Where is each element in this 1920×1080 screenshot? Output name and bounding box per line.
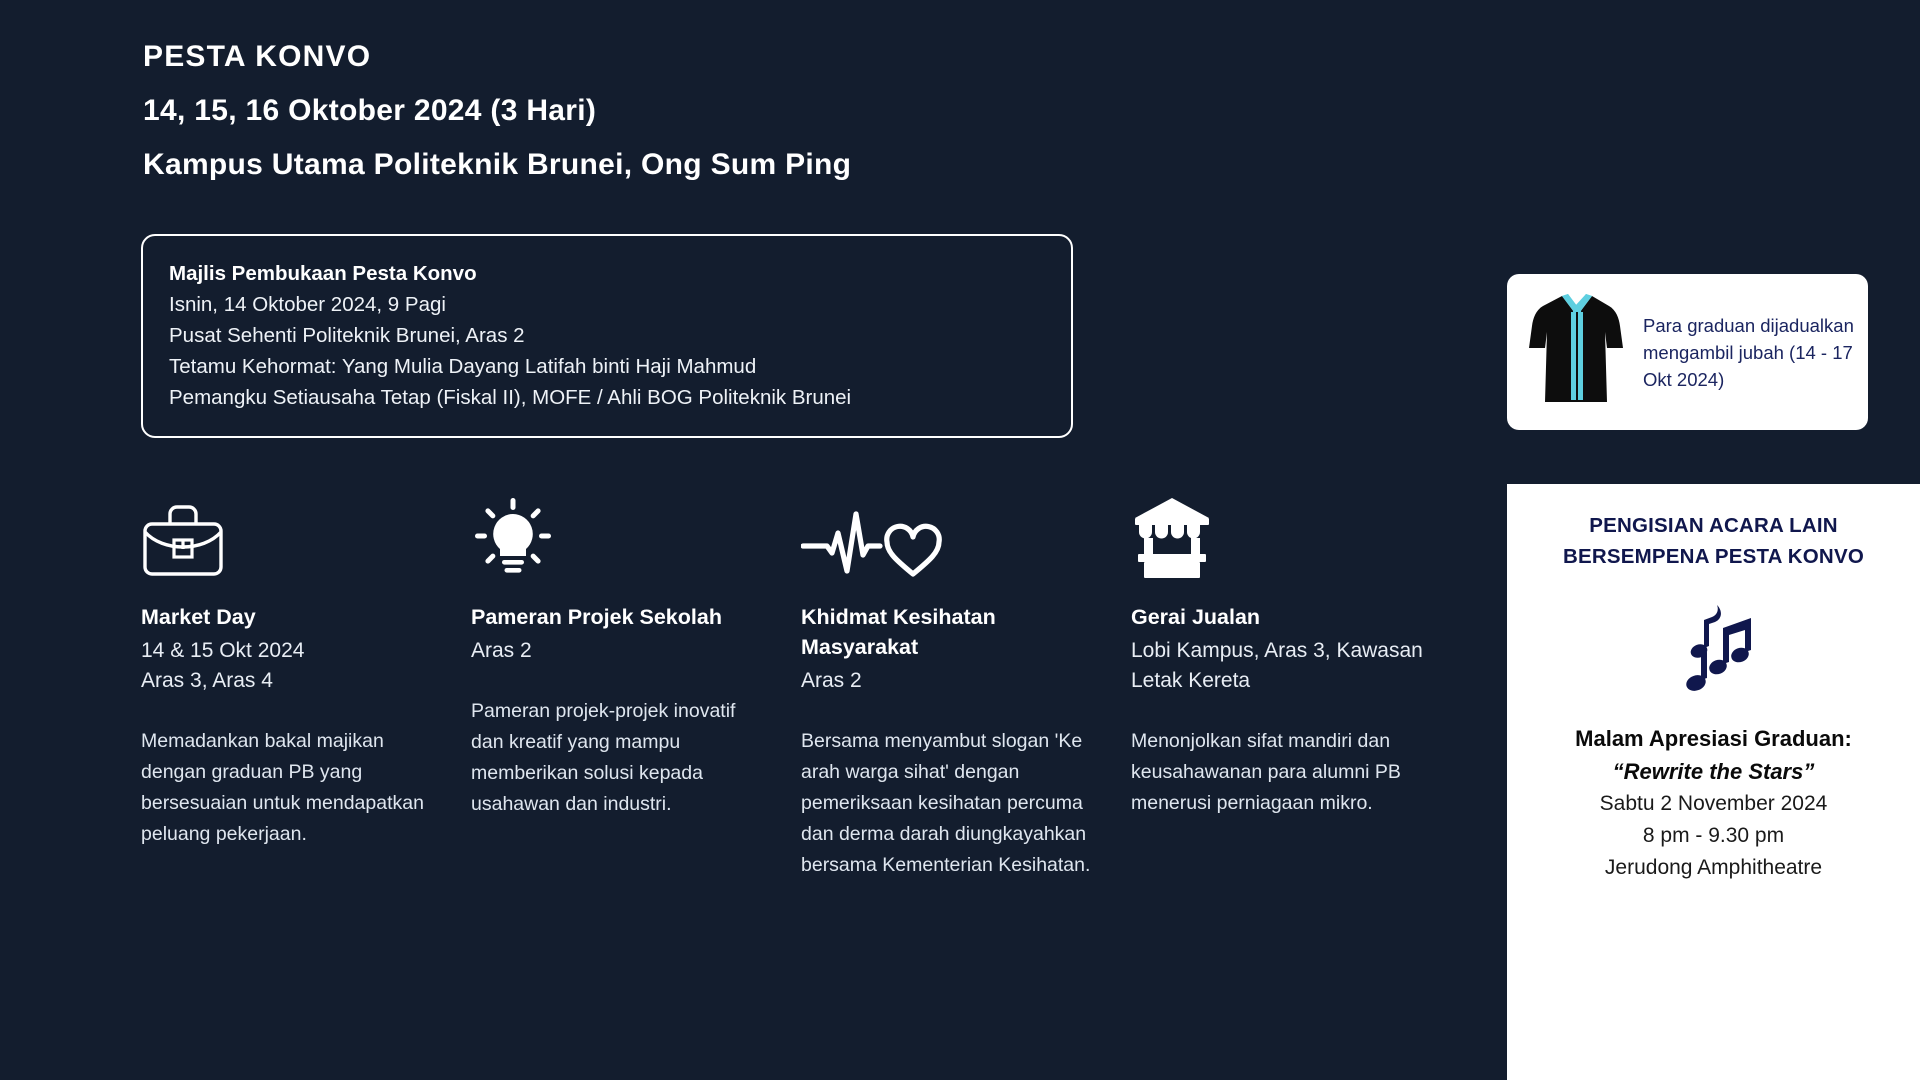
poster-venue: Kampus Utama Politeknik Brunei, Ong Sum … [143,138,1343,192]
feature-column-sales-booth: Gerai Jualan Lobi Kampus, Aras 3, Kawasa… [1131,482,1461,881]
event-time: 8 pm - 9.30 pm [1507,820,1920,852]
feature-description: Menonjolkan sifat mandiri dan keusahawan… [1131,726,1425,819]
poster-canvas: PESTA KONVO 14, 15, 16 Oktober 2024 (3 H… [0,0,1920,1080]
graduation-gown-icon [1529,292,1625,413]
market-stall-icon [1131,482,1425,578]
feature-column-project-exhibition: Pameran Projek Sekolah Aras 2 Pameran pr… [471,482,801,881]
event-date: Sabtu 2 November 2024 [1507,788,1920,820]
opening-ceremony-title: Majlis Pembukaan Pesta Konvo [169,258,1045,289]
opening-ceremony-guest-title: Pemangku Setiausaha Tetap (Fiskal II), M… [169,382,1045,413]
heartbeat-icon [801,482,1095,578]
panel-title-line-2: BERSEMPENA PESTA KONVO [1507,541,1920,572]
poster-title: PESTA KONVO [143,30,1343,84]
feature-description: Pameran projek-projek inovatif dan kreat… [471,696,765,820]
poster-header: PESTA KONVO 14, 15, 16 Oktober 2024 (3 H… [143,30,1343,192]
feature-location: Aras 3, Aras 4 [141,666,435,696]
feature-column-market-day: Market Day 14 & 15 Okt 2024 Aras 3, Aras… [141,482,471,881]
music-notes-icon [1507,602,1920,694]
poster-dates: 14, 15, 16 Oktober 2024 (3 Hari) [143,84,1343,138]
feature-description: Memadankan bakal majikan dengan graduan … [141,726,435,850]
feature-location: Lobi Kampus, Aras 3, Kawasan Letak Keret… [1131,636,1425,696]
other-events-panel: PENGISIAN ACARA LAIN BERSEMPENA PESTA KO… [1507,484,1920,1080]
opening-ceremony-venue: Pusat Sehenti Politeknik Brunei, Aras 2 [169,320,1045,351]
feature-title: Khidmat Kesihatan Masyarakat [801,602,1095,662]
panel-title-line-1: PENGISIAN ACARA LAIN [1507,510,1920,541]
briefcase-icon [141,482,435,578]
feature-column-health-service: Khidmat Kesihatan Masyarakat Aras 2 Bers… [801,482,1131,881]
opening-ceremony-box: Majlis Pembukaan Pesta Konvo Isnin, 14 O… [141,234,1073,438]
event-name: Malam Apresiasi Graduan: [1507,722,1920,755]
opening-ceremony-guest: Tetamu Kehormat: Yang Mulia Dayang Latif… [169,351,1045,382]
lightbulb-icon [471,482,765,578]
feature-description: Bersama menyambut slogan 'Ke arah warga … [801,726,1095,881]
appreciation-night-details: Malam Apresiasi Graduan: “Rewrite the St… [1507,722,1920,884]
event-theme: “Rewrite the Stars” [1507,755,1920,788]
opening-ceremony-datetime: Isnin, 14 Oktober 2024, 9 Pagi [169,289,1045,320]
feature-title: Pameran Projek Sekolah [471,602,765,632]
feature-location: Aras 2 [471,636,765,666]
feature-columns: Market Day 14 & 15 Okt 2024 Aras 3, Aras… [141,482,1461,881]
gown-card-text: Para graduan dijadualkan mengambil jubah… [1643,312,1854,393]
feature-title: Market Day [141,602,435,632]
event-venue: Jerudong Amphitheatre [1507,852,1920,884]
feature-title: Gerai Jualan [1131,602,1425,632]
gown-collection-card: Para graduan dijadualkan mengambil jubah… [1507,274,1868,430]
feature-location: Aras 2 [801,666,1095,696]
feature-date: 14 & 15 Okt 2024 [141,636,435,666]
